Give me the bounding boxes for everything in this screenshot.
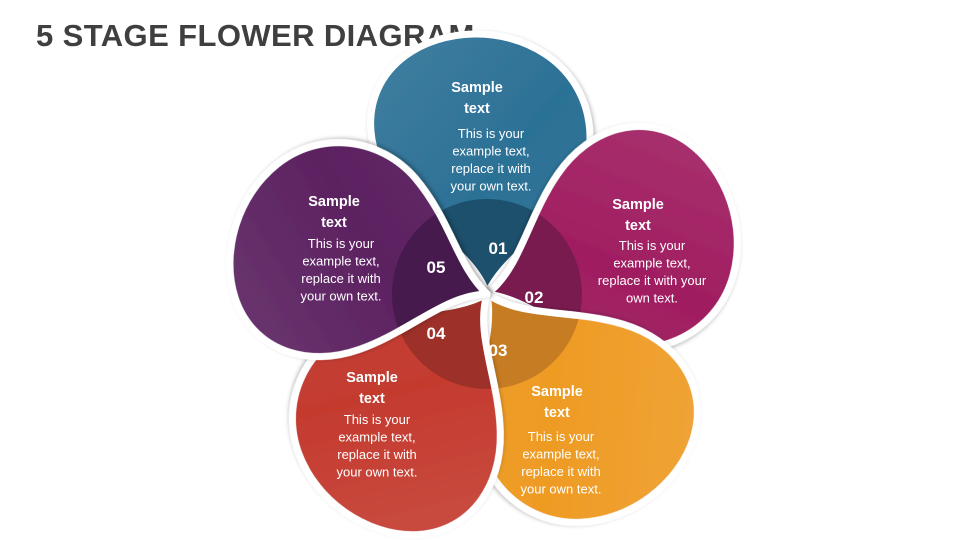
petal-body-line: This is your xyxy=(458,126,525,141)
petal-body-line: your own text. xyxy=(301,289,382,304)
petal-number-02[interactable]: 02 xyxy=(525,288,544,307)
petal-body-line: example text, xyxy=(613,256,690,271)
petal-body-line: your own text. xyxy=(521,482,602,497)
slide-canvas: 5 STAGE FLOWER DIAGRAM SampletextThis is… xyxy=(0,0,960,540)
petal-heading-line2: text xyxy=(464,101,490,117)
petal-body-line: example text, xyxy=(302,254,379,269)
petal-body-line: example text, xyxy=(338,430,415,445)
petal-heading-line1: Sample xyxy=(308,194,360,210)
petal-body-line: your own text. xyxy=(451,179,532,194)
petal-heading-line1: Sample xyxy=(451,80,503,96)
petal-number-03[interactable]: 03 xyxy=(489,341,508,360)
petal-heading-line2: text xyxy=(359,391,385,407)
flower-diagram: SampletextThis is yourexample text,repla… xyxy=(0,0,960,540)
petal-body-line: own text. xyxy=(626,291,678,306)
petal-body-line: example text, xyxy=(522,447,599,462)
petal-number-05[interactable]: 05 xyxy=(427,258,446,277)
petal-heading-line2: text xyxy=(321,215,347,231)
petal-body-line: This is your xyxy=(344,412,411,427)
petal-heading-line1: Sample xyxy=(612,197,664,213)
petal-heading-line2: text xyxy=(625,218,651,234)
petal-heading-line2: text xyxy=(544,405,570,421)
petal-number-01[interactable]: 01 xyxy=(489,239,508,258)
petal-body-line: replace it with your xyxy=(598,273,707,288)
petal-body-line: This is your xyxy=(619,238,686,253)
petal-body-line: your own text. xyxy=(337,465,418,480)
petal-body-line: replace it with xyxy=(451,161,530,176)
petal-body-line: example text, xyxy=(452,144,529,159)
petal-heading-line1: Sample xyxy=(531,384,583,400)
petal-body-line: This is your xyxy=(308,236,375,251)
petal-body-line: replace it with xyxy=(301,271,380,286)
petal-body-line: This is your xyxy=(528,429,595,444)
petal-number-04[interactable]: 04 xyxy=(427,324,446,343)
petal-body-line: replace it with xyxy=(337,447,416,462)
petal-body-line: replace it with xyxy=(521,464,600,479)
petal-heading-line1: Sample xyxy=(346,370,398,386)
